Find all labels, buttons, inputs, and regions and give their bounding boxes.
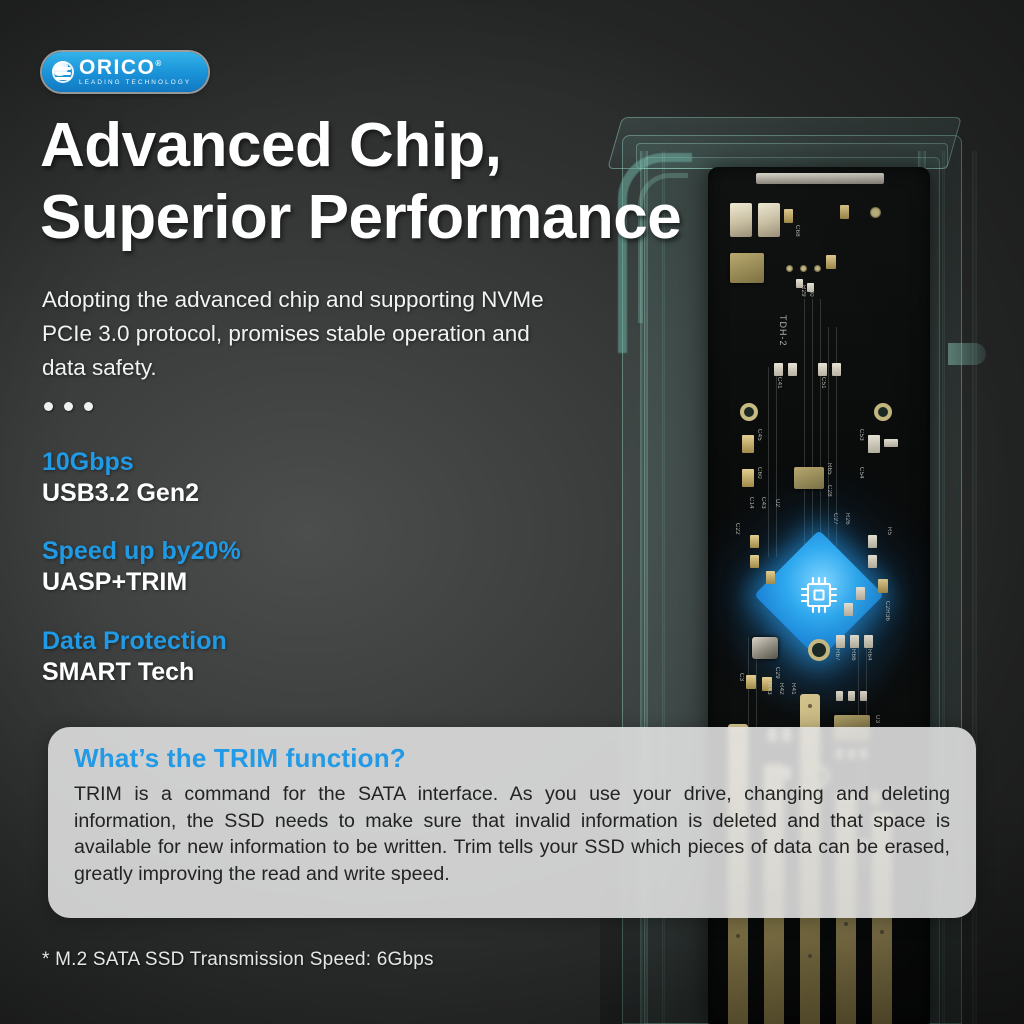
spec-item-uasp: Speed up by20% UASP+TRIM bbox=[42, 536, 462, 598]
logo-brand-name: ORICO bbox=[79, 56, 155, 79]
intro-paragraph: Adopting the advanced chip and supportin… bbox=[42, 283, 562, 386]
logo-text-block: ORICO® LEADING TECHNOLOGY bbox=[79, 57, 191, 86]
spec-item-speed: 10Gbps USB3.2 Gen2 bbox=[42, 447, 462, 509]
spec-highlight: Data Protection bbox=[42, 626, 462, 656]
spec-detail: UASP+TRIM bbox=[42, 567, 462, 598]
spec-item-protection: Data Protection SMART Tech bbox=[42, 626, 462, 688]
divider-dot bbox=[84, 402, 93, 411]
logo-wordmark: ORICO® bbox=[79, 57, 191, 78]
spec-detail: SMART Tech bbox=[42, 657, 462, 688]
spec-highlight: Speed up by20% bbox=[42, 536, 462, 566]
logo-tagline: LEADING TECHNOLOGY bbox=[79, 80, 191, 86]
headline-line-1: Advanced Chip, bbox=[40, 110, 740, 182]
spec-list: 10Gbps USB3.2 Gen2 Speed up by20% UASP+T… bbox=[42, 447, 462, 715]
spec-detail: USB3.2 Gen2 bbox=[42, 478, 462, 509]
registered-trademark-icon: ® bbox=[155, 59, 162, 68]
orico-logo[interactable]: ORICO® LEADING TECHNOLOGY bbox=[42, 52, 208, 92]
orico-globe-icon bbox=[52, 61, 74, 83]
divider-dot bbox=[64, 402, 73, 411]
divider-dot bbox=[44, 402, 53, 411]
headline-line-2: Superior Performance bbox=[40, 182, 740, 254]
trim-info-card: What’s the TRIM function? TRIM is a comm… bbox=[48, 727, 976, 918]
footnote: * M.2 SATA SSD Transmission Speed: 6Gbps bbox=[42, 949, 434, 971]
page-title: Advanced Chip, Superior Performance bbox=[40, 110, 740, 254]
dot-divider bbox=[44, 402, 93, 411]
spec-highlight: 10Gbps bbox=[42, 447, 462, 477]
trim-card-body: TRIM is a command for the SATA interface… bbox=[74, 781, 950, 888]
trim-card-title: What’s the TRIM function? bbox=[74, 743, 950, 774]
